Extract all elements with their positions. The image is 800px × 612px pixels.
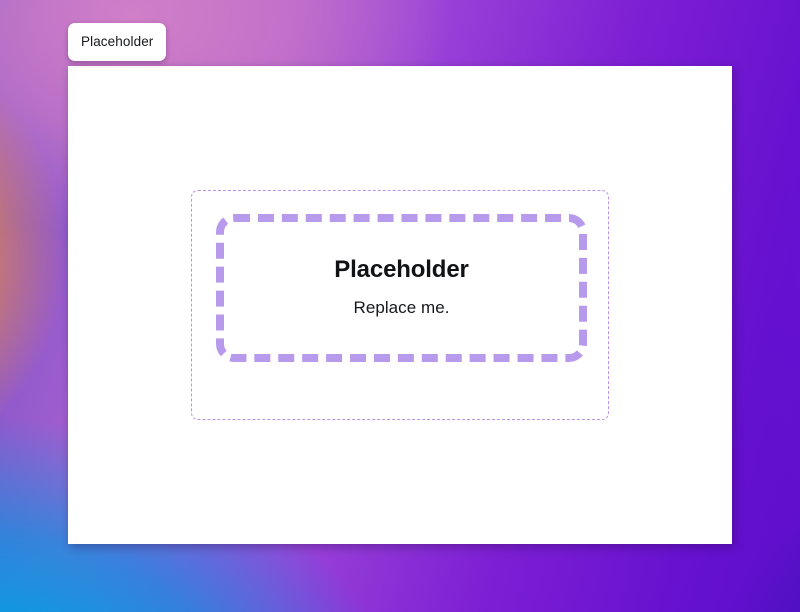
tab-placeholder[interactable]: Placeholder [68, 23, 166, 61]
content-card: Placeholder Replace me. [68, 66, 732, 544]
placeholder-heading: Placeholder [334, 256, 468, 284]
tab-label: Placeholder [81, 35, 153, 49]
placeholder-subtext: Replace me. [334, 298, 468, 318]
placeholder-outer-dashed-frame: Placeholder Replace me. [191, 190, 609, 420]
placeholder-text-block: Placeholder Replace me. [334, 256, 468, 320]
placeholder-inner-dashed-frame[interactable]: Placeholder Replace me. [216, 214, 587, 362]
tab-bar: Placeholder [68, 23, 166, 61]
